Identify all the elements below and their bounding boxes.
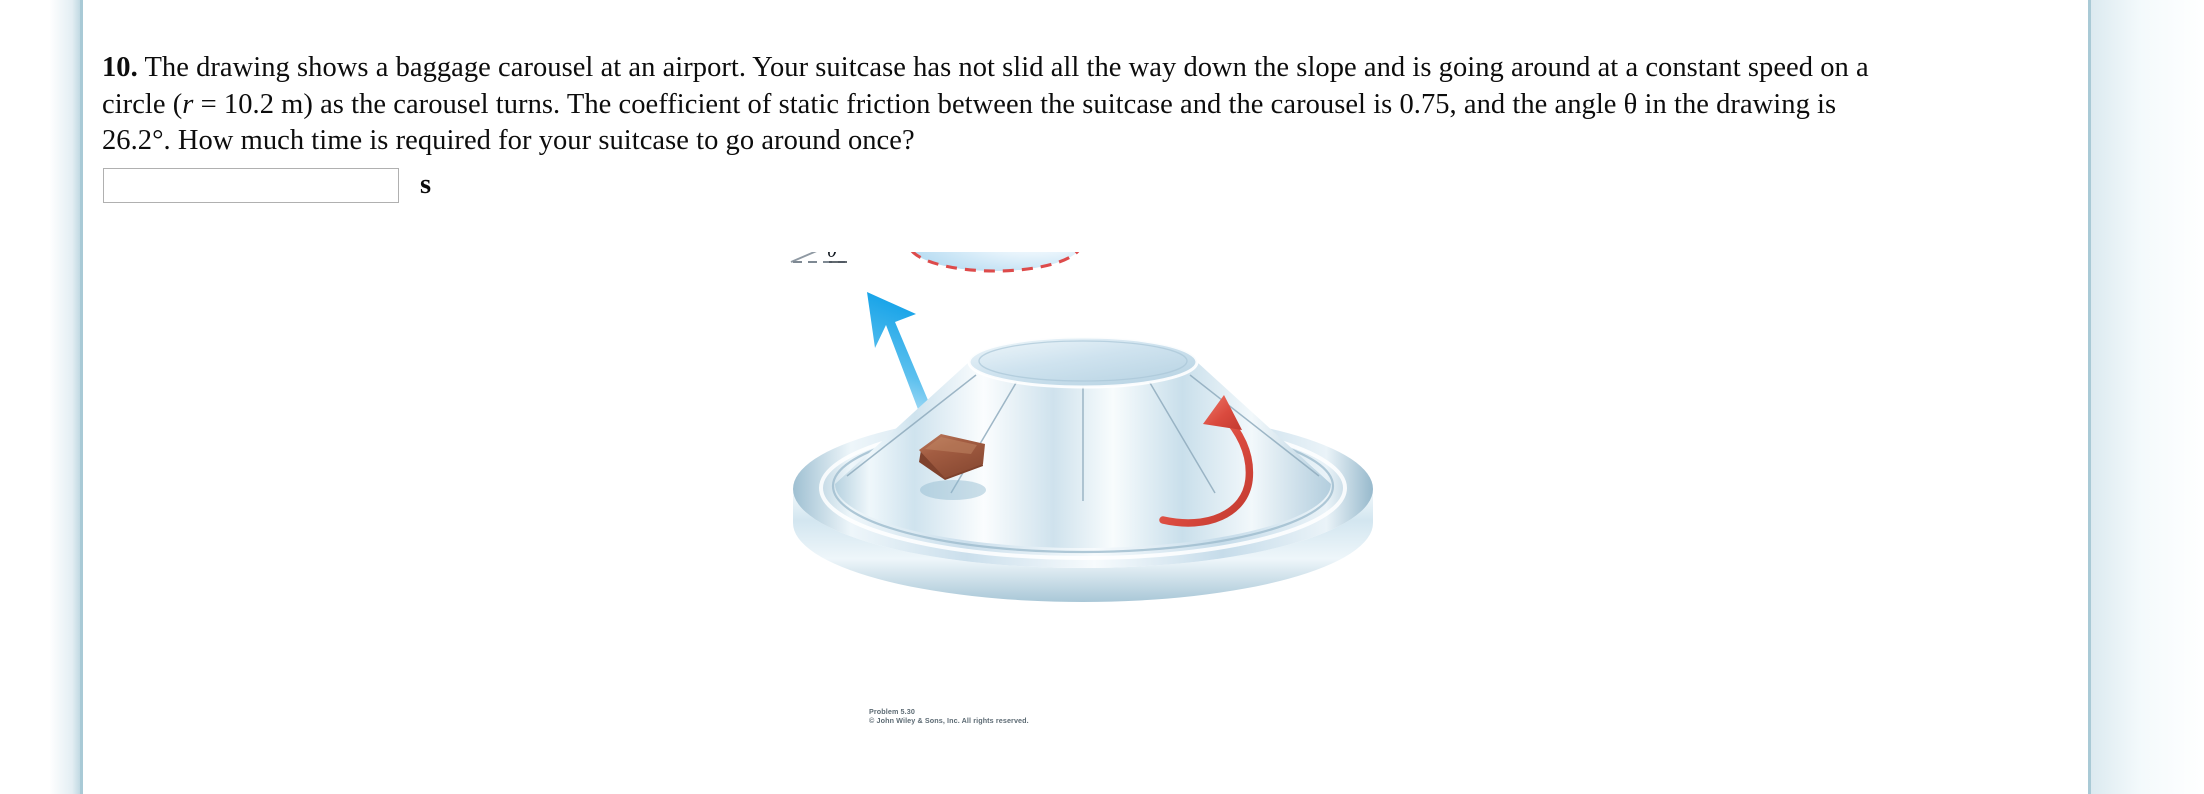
page-root: 10. The drawing shows a baggage carousel… <box>0 0 2204 794</box>
answer-row: s <box>103 168 431 203</box>
inset-circular-path-disc <box>909 252 1081 271</box>
baggage-carousel <box>793 337 1373 602</box>
question-line-2-part-a: circle ( <box>102 89 182 120</box>
question-line-3: 26.2°. How much time is required for you… <box>102 123 2032 160</box>
answer-input[interactable] <box>103 168 399 203</box>
question-line-1: 10. The drawing shows a baggage carousel… <box>102 50 2032 87</box>
caption-problem-id: Problem 5.30 <box>869 707 1129 716</box>
content-column: 10. The drawing shows a baggage carousel… <box>83 0 2088 794</box>
page-gutter-right <box>2091 0 2204 794</box>
suitcase-shadow <box>920 480 986 500</box>
carousel-figure: r θ <box>783 252 1483 752</box>
question-line-1-text: The drawing shows a baggage carousel at … <box>138 52 1869 83</box>
answer-unit-label: s <box>420 171 431 200</box>
question-line-2: circle (r = 10.2 m) as the carousel turn… <box>102 87 2032 124</box>
question-block: 10. The drawing shows a baggage carousel… <box>102 50 2032 160</box>
question-number-suffix: . <box>131 52 138 83</box>
question-line-2-part-b: = 10.2 m) as the carousel turns. The coe… <box>193 89 1836 120</box>
carousel-suitcase <box>919 434 986 500</box>
inset-detail: r θ <box>791 252 1081 271</box>
figure-caption: Problem 5.30 © John Wiley & Sons, Inc. A… <box>869 707 1129 726</box>
page-gutter-left <box>0 0 82 794</box>
inset-angle-label: θ <box>827 252 837 262</box>
caption-copyright: © John Wiley & Sons, Inc. All rights res… <box>869 716 1129 725</box>
question-number: 10 <box>102 52 131 83</box>
radius-symbol: r <box>182 89 193 120</box>
